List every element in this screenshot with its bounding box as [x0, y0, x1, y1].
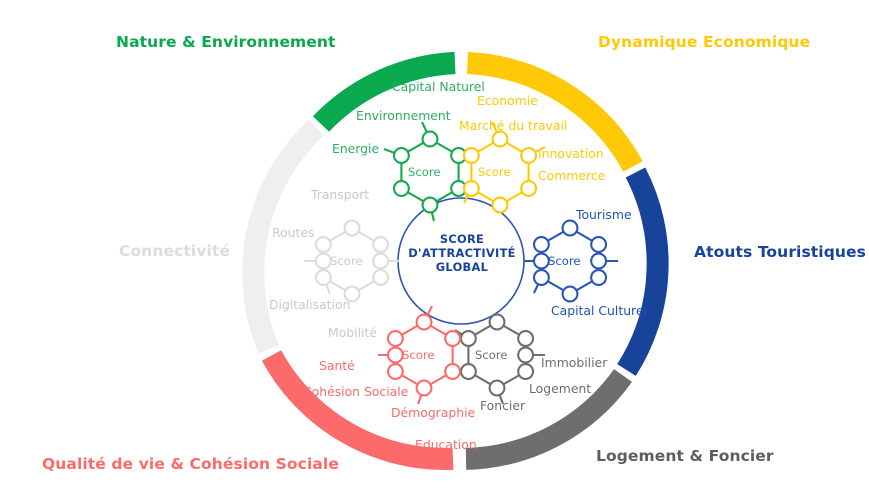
label-demographie[interactable]: Démographie [391, 405, 475, 420]
label-sante[interactable]: Santé [319, 358, 355, 373]
bottom-rule [0, 497, 869, 501]
label-immobilier[interactable]: Immobilier [541, 355, 607, 370]
heading-connectivite[interactable]: Connectivité [119, 242, 230, 260]
label-energie[interactable]: Energie [332, 141, 379, 156]
label-transport[interactable]: Transport [311, 187, 369, 202]
label-capital-culturel[interactable]: Capital Culturel [551, 303, 647, 318]
center-score-title: SCORE D'ATTRACTIVITÉ GLOBAL [398, 232, 526, 274]
score-label-dynamique-economique: Score [478, 165, 510, 179]
score-label-qualite-de-vie: Score [402, 348, 434, 362]
label-commerce[interactable]: Commerce [538, 168, 605, 183]
label-tourisme[interactable]: Tourisme [576, 207, 632, 222]
heading-nature-environnement[interactable]: Nature & Environnement [116, 33, 336, 51]
heading-atouts-touristiques[interactable]: Atouts Touristiques [694, 243, 866, 261]
attractivity-score-diagram: Score Score Score Score Score Score SCOR… [0, 0, 869, 501]
center-line-2: D'ATTRACTIVITÉ [398, 246, 526, 260]
heading-qualite-de-vie-cohesion-sociale[interactable]: Qualité de vie & Cohésion Sociale [42, 455, 339, 473]
label-capital-naturel[interactable]: Capital Naturel [392, 79, 485, 94]
score-label-atouts-touristiques: Score [548, 254, 580, 268]
arc-atouts-touristiques[interactable] [627, 173, 658, 371]
label-digitalisation[interactable]: Digitalisation [269, 297, 350, 312]
label-marche-du-travail[interactable]: Marché du travail [459, 118, 567, 133]
label-economie[interactable]: Economie [477, 93, 538, 108]
label-cohesion-sociale[interactable]: Cohésion Sociale [303, 384, 408, 399]
label-foncier[interactable]: Foncier [480, 398, 525, 413]
center-line-1: SCORE [398, 232, 526, 246]
score-label-nature-environnement: Score [408, 165, 440, 179]
center-line-3: GLOBAL [398, 260, 526, 274]
label-mobilite[interactable]: Mobilité [328, 325, 377, 340]
label-innovation[interactable]: Innovation [538, 146, 604, 161]
heading-dynamique-economique[interactable]: Dynamique Economique [598, 33, 810, 51]
score-label-connectivite: Score [330, 254, 362, 268]
label-education[interactable]: Education [415, 437, 477, 452]
label-logement[interactable]: Logement [529, 381, 591, 396]
label-routes[interactable]: Routes [272, 225, 314, 240]
score-label-logement-foncier: Score [475, 348, 507, 362]
heading-logement-foncier[interactable]: Logement & Foncier [596, 447, 774, 465]
label-environnement[interactable]: Environnement [356, 108, 451, 123]
